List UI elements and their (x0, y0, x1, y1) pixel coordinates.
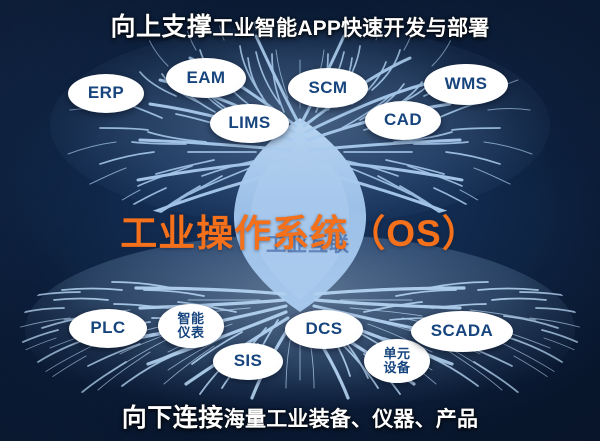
os-title: 工业操作系统（OS） (0, 203, 600, 257)
bubble-label: WMS (445, 75, 488, 93)
bubble-label: DCS (305, 320, 342, 338)
bubble-unit-equipment[interactable]: 单元 设备 (364, 339, 430, 383)
bubble-label: SCADA (431, 322, 493, 340)
bottom-heading-emphasis: 向下连接 (122, 404, 224, 432)
bubble-erp[interactable]: ERP (68, 74, 144, 113)
bubble-label: 智能 仪表 (177, 312, 204, 340)
bottom-heading: 向下连接海量工业装备、仪器、产品 (0, 398, 600, 434)
bubble-label: PLC (90, 319, 125, 337)
bubble-sis[interactable]: SIS (213, 343, 283, 380)
bubble-smart-instrument[interactable]: 智能 仪表 (158, 304, 224, 348)
bubble-label: SCM (309, 79, 348, 97)
bubble-wms[interactable]: WMS (424, 64, 508, 105)
top-heading-rest: 工业智能APP快速开发与部署 (213, 17, 490, 40)
bubble-scm[interactable]: SCM (288, 68, 368, 108)
bottom-heading-rest: 海量工业装备、仪器、产品 (224, 408, 478, 431)
bubble-dcs[interactable]: DCS (285, 310, 363, 349)
bubble-plc[interactable]: PLC (69, 309, 147, 348)
bubble-label: LIMS (228, 114, 270, 132)
bubble-label: CAD (384, 111, 422, 129)
bubble-label: EAM (187, 69, 226, 87)
bubble-eam[interactable]: EAM (166, 58, 246, 98)
bubble-label: ERP (88, 84, 124, 102)
bubble-lims[interactable]: LIMS (210, 104, 289, 143)
bubble-label: SIS (234, 352, 263, 370)
top-heading: 向上支撑工业智能APP快速开发与部署 (0, 7, 600, 43)
bubble-cad[interactable]: CAD (365, 101, 441, 140)
bubble-label: 单元 设备 (383, 347, 410, 375)
bubble-scada[interactable]: SCADA (411, 311, 513, 352)
top-heading-emphasis: 向上支撑 (111, 13, 213, 41)
industrial-os-diagram: 向上支撑工业智能APP快速开发与部署 ERP EAM LIMS SCM CAD … (0, 0, 600, 441)
